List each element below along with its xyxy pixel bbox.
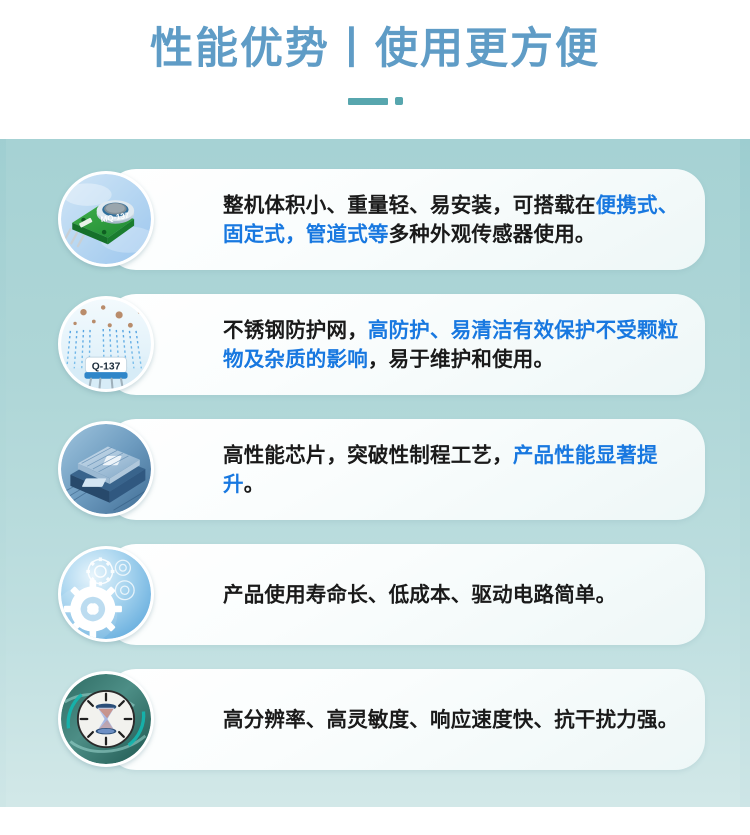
feature-text: 整机体积小、重量轻、易安装，可搭载在便携式、固定式，管道式等多种外观传感器使用。 — [223, 190, 683, 248]
normal-text: 产品使用寿命长、低成本、驱动电路简单。 — [223, 583, 616, 606]
gears-icon — [58, 546, 154, 642]
promo-page: 性能优势丨使用更方便 整机体积小、重量轻、易安装，可搭载在便携式、固定式，管道式… — [0, 0, 750, 835]
icon-image — [61, 549, 151, 639]
normal-text: 高分辨率、高灵敏度、响应速度快、抗干扰力强。 — [223, 708, 678, 731]
q137-filter-mesh-graphic: Q-137 — [61, 299, 151, 389]
feature-text: 不锈钢防护网，高防护、易清洁有效保护不受颗粒物及杂质的影响，易于维护和使用。 — [223, 315, 683, 373]
mq137-gas-sensor-graphic: MQ-137 — [61, 174, 151, 264]
q137-filter-mesh-icon: Q-137 — [58, 296, 154, 392]
feature-card: 不锈钢防护网，高防护、易清洁有效保护不受颗粒物及杂质的影响，易于维护和使用。 — [106, 294, 705, 395]
svg-text:Q-137: Q-137 — [92, 361, 121, 372]
normal-text: 多种外观传感器使用。 — [389, 223, 596, 246]
feature-card: 产品使用寿命长、低成本、驱动电路简单。 — [106, 544, 705, 645]
icon-image: Q-137 — [61, 299, 151, 389]
feature-text: 高性能芯片，突破性制程工艺，产品性能显著提升。 — [223, 440, 683, 498]
normal-text: ，易于维护和使用。 — [368, 348, 554, 371]
feature-text: 产品使用寿命长、低成本、驱动电路简单。 — [223, 580, 683, 609]
feature-text: 高分辨率、高灵敏度、响应速度快、抗干扰力强。 — [223, 705, 683, 734]
gears-graphic — [61, 549, 151, 639]
icon-image — [61, 424, 151, 514]
feature-card: 高性能芯片，突破性制程工艺，产品性能显著提升。 — [106, 419, 705, 520]
feature-card: 高分辨率、高灵敏度、响应速度快、抗干扰力强。 — [106, 669, 705, 770]
mq137-gas-sensor-icon: MQ-137 — [58, 171, 154, 267]
normal-text: 高性能芯片，突破性制程工艺， — [223, 443, 513, 466]
feature-card: 整机体积小、重量轻、易安装，可搭载在便携式、固定式，管道式等多种外观传感器使用。 — [106, 169, 705, 270]
icon-image — [61, 674, 151, 764]
hourglass-clock-icon — [58, 671, 154, 767]
hourglass-clock-graphic — [61, 674, 151, 764]
title-divider — [0, 96, 750, 106]
page-title: 性能优势丨使用更方便 — [0, 23, 750, 77]
page-header: 性能优势丨使用更方便 — [0, 0, 750, 139]
normal-text: 不锈钢防护网， — [223, 318, 368, 341]
icon-image: MQ-137 — [61, 174, 151, 264]
feature-card-list: 整机体积小、重量轻、易安装，可搭载在便携式、固定式，管道式等多种外观传感器使用。 — [0, 139, 750, 807]
normal-text: 整机体积小、重量轻、易安装，可搭载在 — [223, 193, 596, 216]
normal-text: 。 — [244, 473, 265, 496]
divider-bar — [348, 98, 388, 105]
semiconductor-chip-icon — [58, 421, 154, 517]
divider-dot — [395, 97, 403, 105]
semiconductor-chip-graphic — [61, 424, 151, 514]
